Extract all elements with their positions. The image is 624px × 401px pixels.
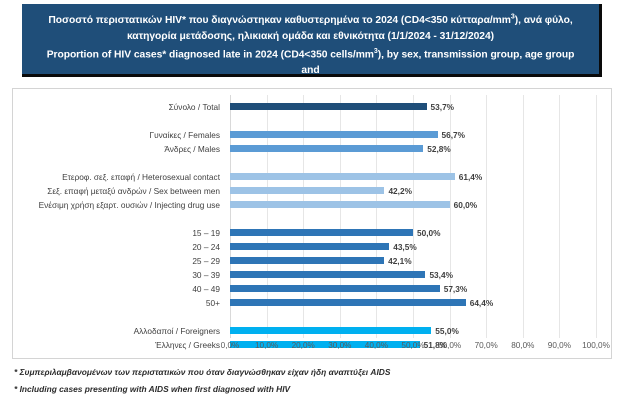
bar-value-label: 50,0% [417,229,441,237]
x-tick-label: 60,0% [438,341,461,350]
category-axis-labels: Σύνολο / TotalΓυναίκες / FemalesΆνδρες /… [13,95,225,338]
title-line-english-1: Proportion of HIV cases* diagnosed late … [40,44,581,78]
title-line-greek-2: κατηγορία μετάδοσης, ηλικιακή ομάδα και … [40,29,581,44]
x-tick-label: 70,0% [475,341,498,350]
category-label: 15 – 19 [192,229,220,237]
category-label: Γυναίκες / Females [150,131,220,139]
bar[interactable] [230,131,438,138]
chart-title-banner: Ποσοστό περιστατικών HIV* που διαγνώστηκ… [22,4,602,77]
bar-value-label: 60,0% [454,201,478,209]
category-label: 30 – 39 [192,271,220,279]
bar[interactable] [230,257,384,264]
category-label: 25 – 29 [192,257,220,265]
footnote-english: * Including cases presenting with AIDS w… [14,381,614,398]
bar-value-label: 42,2% [388,187,412,195]
x-tick-label: 100,0% [582,341,610,350]
x-tick-label: 90,0% [548,341,571,350]
x-tick-label: 30,0% [328,341,351,350]
category-label: Ετεροφ. σεξ. επαφή / Heterosexual contac… [62,173,220,181]
bar[interactable] [230,327,431,334]
bar-value-label: 57,3% [444,285,468,293]
category-label: 20 – 24 [192,243,220,251]
bar-value-label: 56,7% [442,131,466,139]
bar[interactable] [230,243,389,250]
x-tick-label: 10,0% [255,341,278,350]
bar-value-label: 43,5% [393,243,417,251]
footnotes: * Συμπεριλαμβανομένων των περιστατικών π… [14,364,614,398]
category-label: Σεξ. επαφή μεταξύ ανδρών / Sex between m… [47,187,220,195]
bar[interactable] [230,285,440,292]
bar-value-label: 52,8% [427,145,451,153]
footnote-greek: * Συμπεριλαμβανομένων των περιστατικών π… [14,364,614,381]
x-tick-label: 20,0% [292,341,315,350]
bar-value-label: 53,7% [431,103,455,111]
bar[interactable] [230,229,413,236]
gridline-90 [559,95,560,338]
bar[interactable] [230,271,425,278]
category-label: 50+ [206,299,220,307]
x-tick-label: 40,0% [365,341,388,350]
title-line-greek-1: Ποσοστό περιστατικών HIV* που διαγνώστηκ… [40,10,581,29]
bar[interactable] [230,173,455,180]
x-tick-label: 0,0% [221,341,240,350]
category-label: Άνδρες / Males [164,145,220,153]
bar[interactable] [230,299,466,306]
chart-card: Σύνολο / TotalΓυναίκες / FemalesΆνδρες /… [12,88,612,359]
bar-value-label: 53,4% [429,271,453,279]
bar-value-label: 55,0% [435,327,459,335]
x-tick-label: 50,0% [401,341,424,350]
gridline-100 [596,95,597,338]
bar[interactable] [230,145,423,152]
bar[interactable] [230,201,450,208]
bar-value-label: 64,4% [470,299,494,307]
x-tick-label: 80,0% [511,341,534,350]
x-axis-tick-labels: 0,0%10,0%20,0%30,0%40,0%50,0%60,0%70,0%8… [230,339,596,355]
category-label: Ενέσιμη χρήση εξαρτ. ουσιών / Injecting … [39,201,220,209]
gridline-80 [523,95,524,338]
bar[interactable] [230,103,427,110]
category-label: Αλλοδαποί / Foreigners [134,327,220,335]
category-label: Έλληνες / Greeks [155,341,220,349]
bar-value-label: 42,1% [388,257,412,265]
bar-value-label: 61,4% [459,173,483,181]
bar[interactable] [230,187,384,194]
category-label: 40 – 49 [192,285,220,293]
plot-area: 53,7%56,7%52,8%61,4%42,2%60,0%50,0%43,5%… [230,95,596,338]
category-label: Σύνολο / Total [169,103,220,111]
